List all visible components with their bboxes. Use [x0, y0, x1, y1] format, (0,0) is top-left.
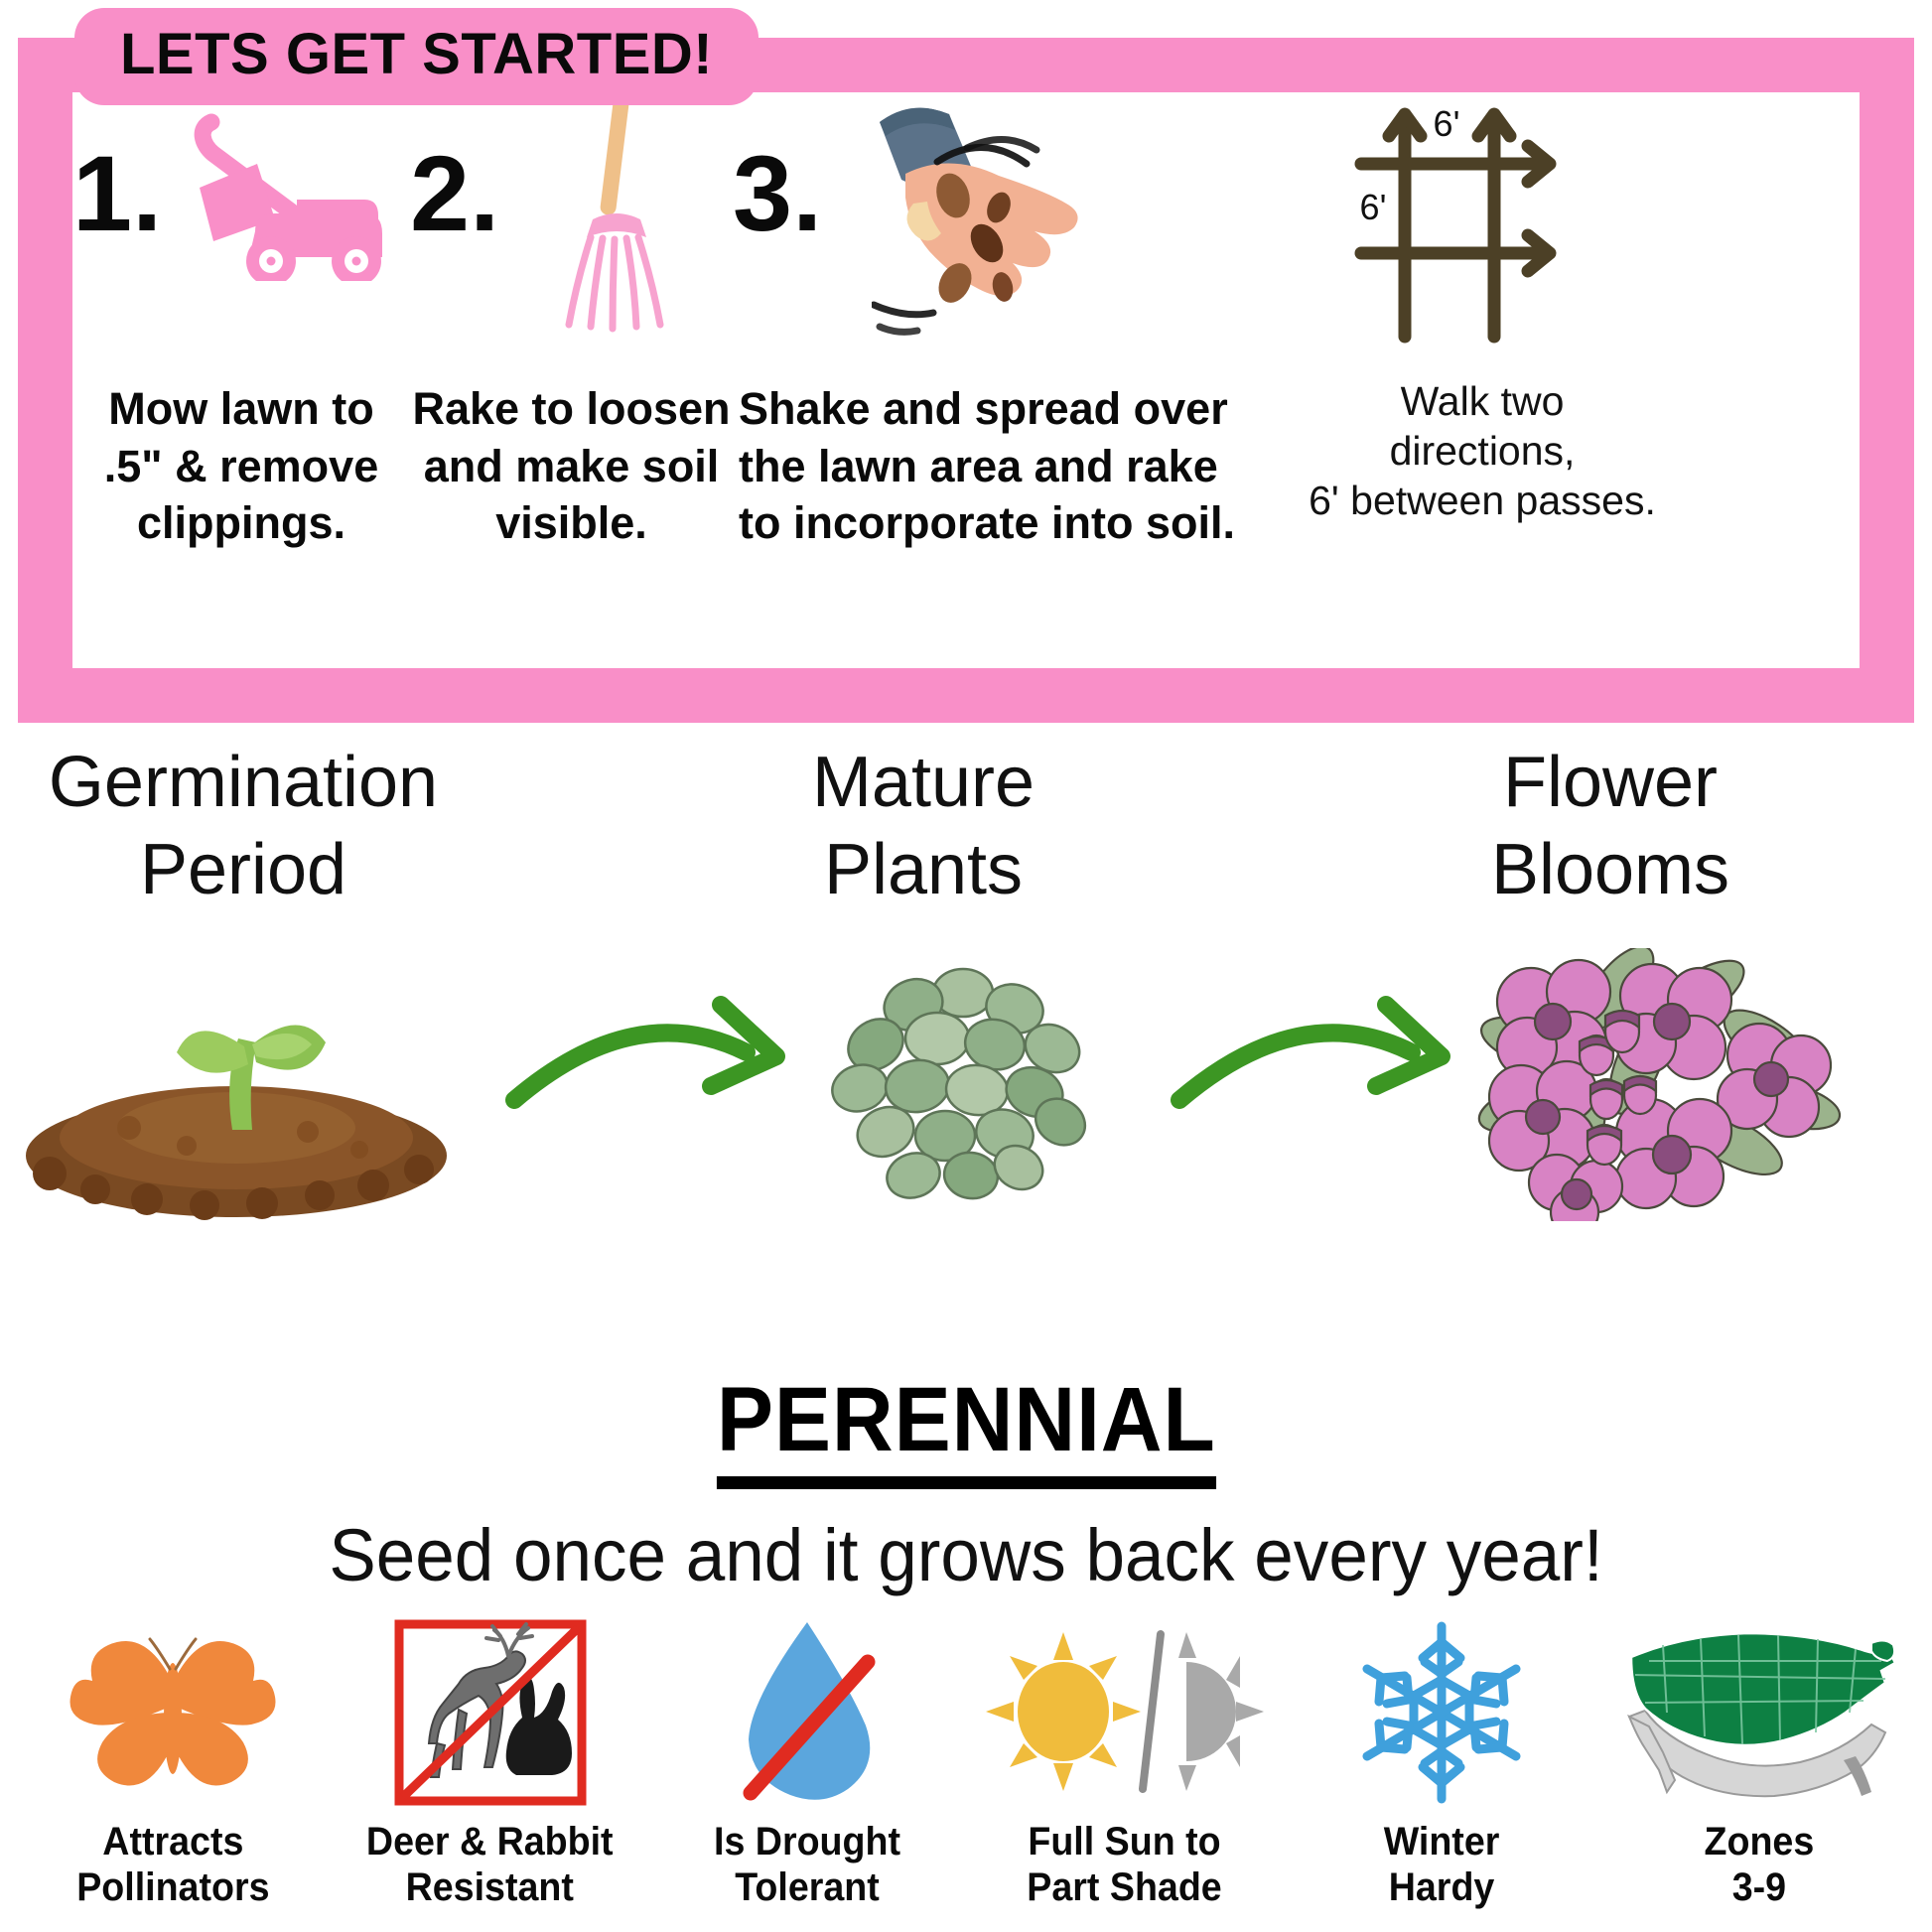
step-1-caption: Mow lawn to .5" & remove clippings. [72, 380, 410, 552]
grid-label-left: 6' [1360, 187, 1387, 227]
feature-3-label-line-2: Tolerant [714, 1864, 900, 1910]
seedling-in-soil-icon [10, 961, 467, 1224]
stage-3-title-line-1: Flower [1397, 740, 1824, 827]
step-3-line-3: to incorporate into soil. [739, 494, 1249, 552]
step-3-line-1: Shake and spread over [739, 380, 1249, 438]
stage-1-title-line-2: Period [30, 827, 457, 914]
perennial-subtitle: Seed once and it grows back every year! [39, 1513, 1893, 1597]
deer-rabbit-no-icon [393, 1618, 588, 1807]
feature-1-label-line-1: Attracts [76, 1819, 269, 1864]
walk-line-2: directions, [1279, 426, 1686, 476]
step-3: 3. [733, 92, 1249, 552]
feature-6-label: Zones 3-9 [1705, 1819, 1815, 1911]
stage-1-title-line-1: Germination [30, 740, 457, 827]
curved-arrow-right-icon-1 [496, 983, 794, 1122]
step-3-header: 3. [733, 92, 1249, 380]
feature-1-label: Attracts Pollinators [76, 1819, 269, 1911]
step-1-number: 1. [72, 140, 162, 247]
stage-3-title-line-2: Blooms [1397, 827, 1824, 914]
feature-3-label-line-1: Is Drought [714, 1819, 900, 1864]
feature-5-label-line-2: Hardy [1384, 1864, 1500, 1910]
walk-line-3: 6' between passes. [1279, 476, 1686, 525]
feature-icons-row: Attracts Pollinators [0, 1618, 1932, 1932]
rake-icon [499, 92, 733, 341]
feature-4-label-line-1: Full Sun to [1028, 1819, 1222, 1864]
feature-5-label-line-1: Winter [1384, 1819, 1500, 1864]
mature-foliage-icon [814, 953, 1112, 1221]
step-3-number: 3. [733, 140, 822, 247]
step-2-line-1: Rake to loosen [410, 380, 733, 438]
hand-spreading-seeds-icon [822, 92, 1249, 341]
step-1-line-2: .5" & remove [72, 438, 410, 495]
stage-2-title-line-2: Plants [710, 827, 1137, 914]
sun-part-shade-icon [976, 1618, 1274, 1807]
step-1-line-3: clippings. [72, 494, 410, 552]
walk-diagram: 6' 6' Walk two directions, 6' between pa… [1249, 92, 1686, 525]
curved-arrow-right-icon-2 [1162, 983, 1459, 1122]
feature-6-label-line-2: 3-9 [1705, 1864, 1815, 1910]
feature-deer-rabbit-resistant: Deer & Rabbit Resistant [342, 1618, 639, 1932]
feature-3-label: Is Drought Tolerant [714, 1819, 900, 1911]
feature-4-label: Full Sun to Part Shade [1028, 1819, 1222, 1911]
feature-drought-tolerant: Is Drought Tolerant [658, 1618, 956, 1932]
step-1-header: 1. [72, 92, 410, 380]
step-3-line-2: the lawn area and rake [739, 438, 1249, 495]
feature-2-label: Deer & Rabbit Resistant [366, 1819, 614, 1911]
butterfly-icon [59, 1618, 287, 1807]
timeline-artwork [0, 953, 1932, 1221]
pink-flowers-icon [1469, 948, 1866, 1221]
feature-attracts-pollinators: Attracts Pollinators [24, 1618, 322, 1932]
timeline-titles: Germination Period Mature Plants Flower … [0, 740, 1932, 914]
lets-get-started-banner: LETS GET STARTED! [74, 8, 759, 105]
perennial-section: PERENNIAL Seed once and it grows back ev… [0, 1368, 1932, 1597]
step-2-line-2: and make soil [410, 438, 733, 495]
infographic-page: LETS GET STARTED! 1. [0, 0, 1932, 1932]
feature-2-label-line-1: Deer & Rabbit [366, 1819, 614, 1864]
feature-1-label-line-2: Pollinators [76, 1864, 269, 1910]
walk-line-1: Walk two [1279, 376, 1686, 426]
growth-timeline: Germination Period Mature Plants Flower … [0, 740, 1932, 1355]
step-3-caption: Shake and spread over the lawn area and … [733, 380, 1249, 552]
feature-full-sun-part-shade: Full Sun to Part Shade [976, 1618, 1274, 1932]
lawn-mower-icon [162, 92, 410, 281]
feature-5-label: Winter Hardy [1384, 1819, 1500, 1911]
walk-caption: Walk two directions, 6' between passes. [1279, 376, 1686, 525]
feature-2-label-line-2: Resistant [366, 1864, 614, 1910]
stage-3-title: Flower Blooms [1397, 740, 1824, 914]
perennial-title: PERENNIAL [717, 1368, 1216, 1489]
step-2-header: 2. [410, 92, 733, 380]
grid-arrows-diagram: 6' 6' [1333, 92, 1631, 360]
snowflake-icon [1347, 1618, 1536, 1807]
grid-label-top: 6' [1434, 103, 1460, 144]
water-drop-no-icon [723, 1618, 892, 1807]
feature-4-label-line-2: Part Shade [1028, 1864, 1222, 1910]
stage-1-title: Germination Period [30, 740, 457, 914]
feature-winter-hardy: Winter Hardy [1293, 1618, 1590, 1932]
feature-zones: Zones 3-9 [1610, 1618, 1908, 1932]
stage-2-title-line-1: Mature [710, 740, 1137, 827]
steps-row: 1. Mow lawn to .5" & re [72, 92, 1860, 723]
stage-2-title: Mature Plants [710, 740, 1137, 914]
step-2-line-3: visible. [410, 494, 733, 552]
step-2-number: 2. [410, 140, 499, 247]
feature-6-label-line-1: Zones [1705, 1819, 1815, 1864]
step-1: 1. Mow lawn to .5" & re [72, 92, 410, 552]
step-2-caption: Rake to loosen and make soil visible. [410, 380, 733, 552]
usa-map-icon [1615, 1618, 1903, 1807]
banner-label: LETS GET STARTED! [120, 26, 713, 83]
step-2: 2. Rake to [410, 92, 733, 552]
step-1-line-1: Mow lawn to [72, 380, 410, 438]
